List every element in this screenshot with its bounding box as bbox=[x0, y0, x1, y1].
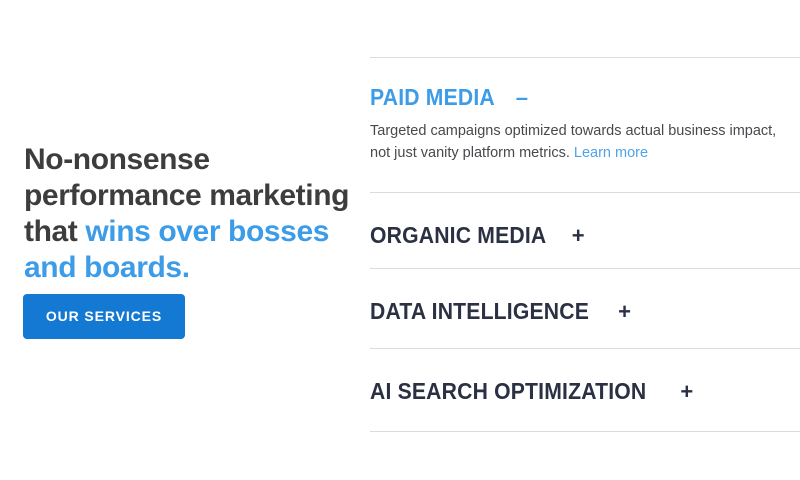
accordion-title: PAID MEDIA bbox=[370, 84, 495, 111]
accordion-title: ORGANIC MEDIA bbox=[370, 222, 546, 249]
page-title: No-nonsense performance marketing that w… bbox=[24, 142, 354, 286]
accordion-divider bbox=[370, 57, 800, 58]
accordion-title: AI SEARCH OPTIMIZATION bbox=[370, 378, 646, 405]
accordion-divider bbox=[370, 348, 800, 349]
plus-icon: + bbox=[572, 225, 585, 247]
accordion-header-paid-media[interactable]: PAID MEDIA – bbox=[370, 84, 528, 111]
accordion-title: DATA INTELLIGENCE bbox=[370, 298, 589, 325]
hero-left-column: No-nonsense performance marketing that w… bbox=[0, 0, 360, 480]
accordion-header-ai-search-optimization[interactable]: AI SEARCH OPTIMIZATION + bbox=[370, 378, 693, 405]
plus-icon: + bbox=[618, 301, 631, 323]
page-root: No-nonsense performance marketing that w… bbox=[0, 0, 800, 480]
accordion-divider bbox=[370, 431, 800, 432]
accordion-panel-paid-media: Targeted campaigns optimized towards act… bbox=[370, 120, 782, 164]
services-accordion: PAID MEDIA – Targeted campaigns optimize… bbox=[370, 0, 800, 480]
accordion-header-organic-media[interactable]: ORGANIC MEDIA + bbox=[370, 222, 585, 249]
accordion-header-data-intelligence[interactable]: DATA INTELLIGENCE + bbox=[370, 298, 631, 325]
accordion-divider bbox=[370, 268, 800, 269]
our-services-button[interactable]: OUR SERVICES bbox=[23, 294, 185, 339]
plus-icon: + bbox=[680, 381, 693, 403]
learn-more-link[interactable]: Learn more bbox=[574, 145, 648, 161]
minus-icon: – bbox=[516, 87, 528, 109]
accordion-divider bbox=[370, 192, 800, 193]
